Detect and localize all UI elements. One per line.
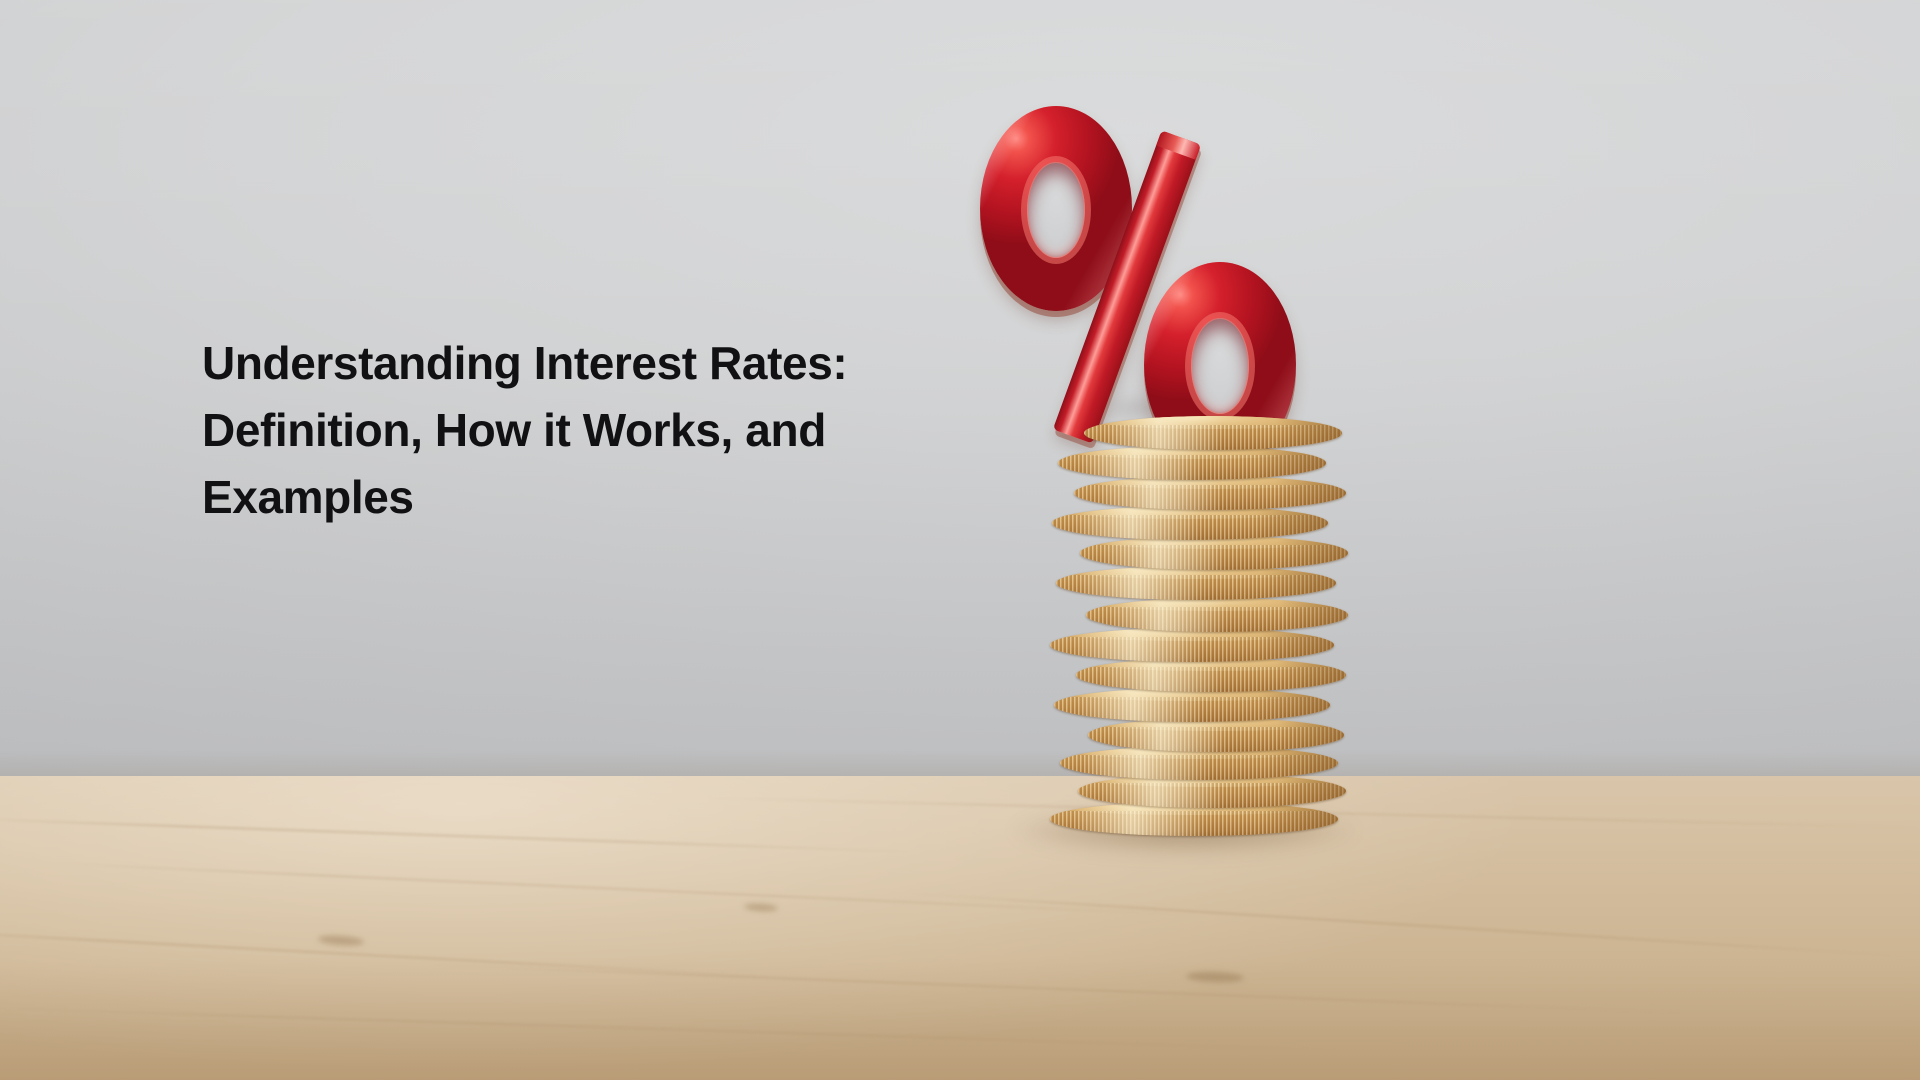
- coin-shade: [1256, 446, 1326, 480]
- table-foreground-shade: [0, 960, 1920, 1080]
- coin: [1054, 688, 1330, 722]
- percent-lower-ring-inner-lip: [1185, 312, 1255, 420]
- coin-highlight: [1105, 416, 1224, 450]
- coin: [1076, 658, 1346, 692]
- wooden-table-surface: [0, 776, 1920, 1080]
- coin-highlight: [1073, 628, 1204, 662]
- coin-shade: [1256, 506, 1328, 540]
- coin-shade: [1275, 476, 1346, 510]
- coin-highlight: [1079, 446, 1202, 480]
- coin-shade: [1278, 536, 1348, 570]
- coin-highlight: [1101, 536, 1224, 570]
- coin-shade: [1275, 416, 1342, 450]
- gold-coin-stack: [1040, 408, 1370, 853]
- coin-highlight: [1078, 566, 1207, 600]
- headline-line-3: Examples: [202, 464, 962, 531]
- coin-highlight: [1096, 476, 1221, 510]
- wall-bottom-edge: [0, 750, 1920, 776]
- coin-highlight: [1107, 598, 1228, 632]
- banner-scene: Understanding Interest Rates: Definition…: [0, 0, 1920, 1080]
- percent-upper-ring-inner-lip: [1021, 156, 1091, 264]
- coin-shade: [1280, 598, 1348, 632]
- headline-line-2: Definition, How it Works, and: [202, 397, 962, 464]
- coin: [1056, 566, 1336, 600]
- coin-shade: [1258, 688, 1330, 722]
- headline-line-1: Understanding Interest Rates:: [202, 330, 962, 397]
- coin: [1084, 416, 1342, 450]
- coin-highlight: [1074, 506, 1201, 540]
- coin: [1080, 536, 1348, 570]
- coin: [1088, 718, 1344, 752]
- coin: [1074, 476, 1346, 510]
- coin: [1050, 628, 1334, 662]
- percent-symbol: [960, 70, 1340, 440]
- coin: [1086, 598, 1348, 632]
- coin-highlight: [1076, 688, 1203, 722]
- coin-highlight: [1098, 658, 1222, 692]
- coin-shade: [1263, 566, 1336, 600]
- page-title: Understanding Interest Rates: Definition…: [202, 330, 962, 531]
- coin-shade: [1276, 658, 1346, 692]
- coin: [1058, 446, 1326, 480]
- coin-shade: [1277, 718, 1344, 752]
- coin-shade: [1260, 628, 1334, 662]
- coin-highlight: [1108, 718, 1226, 752]
- coin: [1052, 506, 1328, 540]
